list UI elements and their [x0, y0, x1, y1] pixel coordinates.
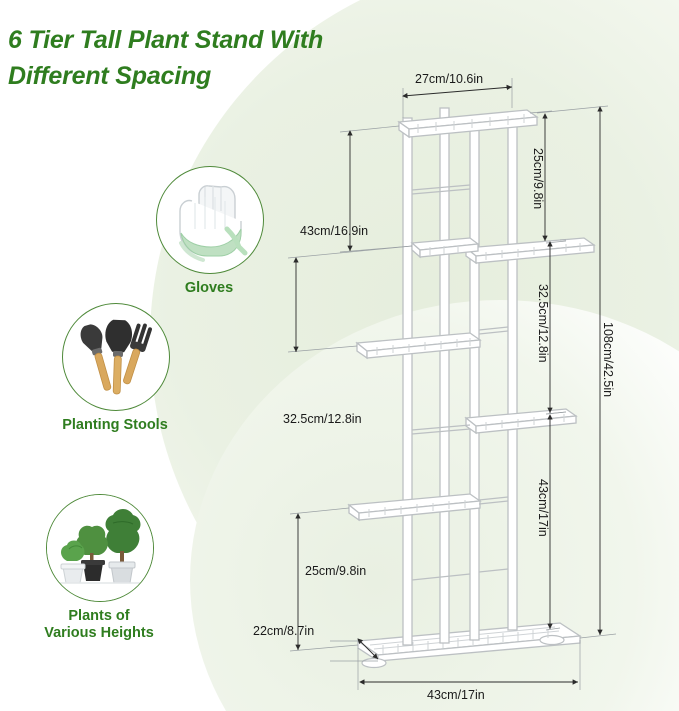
dim-left-middle-gap: 32.5cm/12.8in: [283, 412, 362, 426]
feature-gloves-circle: [156, 166, 264, 274]
stand-posts: [403, 108, 517, 645]
feature-plants-label-line2: Various Heights: [44, 625, 154, 641]
feature-tools-circle: [62, 303, 170, 411]
dimension-lines: [288, 78, 616, 690]
page-title: 6 Tier Tall Plant Stand With Different S…: [8, 22, 398, 94]
dim-right-third-gap: 43cm/17in: [536, 479, 550, 537]
dim-left-upper-gap: 43cm/16.9in: [300, 224, 368, 238]
stand-shelf-upper-right: [466, 238, 594, 263]
feature-plants-label-line1: Plants of: [68, 608, 129, 624]
feature-gloves-label: Gloves: [143, 280, 275, 297]
feature-plants: Plants of Various Heights: [46, 494, 165, 642]
feature-gloves: Gloves: [156, 166, 275, 297]
gloves-icon: [157, 167, 263, 273]
garden-trowel-icon: [63, 304, 169, 410]
potted-plants-icon: [47, 495, 153, 601]
title-line-2: Different Spacing: [8, 58, 398, 94]
feature-tools-label: Planting Stools: [49, 417, 181, 434]
dim-right-top-gap: 25cm/9.8in: [531, 148, 545, 209]
dim-left-lower-gap: 25cm/9.8in: [305, 564, 366, 578]
feature-plants-label: Plants of Various Heights: [33, 608, 165, 642]
feature-tools: Planting Stools: [62, 303, 181, 434]
title-line-1: 6 Tier Tall Plant Stand With: [8, 26, 323, 54]
dim-total-height: 108cm/42.5in: [601, 322, 615, 397]
dim-right-second-gap: 32.5cm/12.8in: [536, 284, 550, 363]
stand-shelf-left-middle: [357, 333, 480, 358]
product-infographic: 6 Tier Tall Plant Stand With Different S…: [0, 0, 679, 711]
dim-base-width: 43cm/17in: [427, 688, 485, 702]
dim-base-depth: 22cm/8.7in: [253, 624, 314, 638]
stand-shelf-left-lower: [349, 494, 480, 520]
feature-plants-circle: [46, 494, 154, 602]
stand-illustration: [349, 108, 594, 668]
dim-top-width: 27cm/10.6in: [415, 72, 483, 86]
